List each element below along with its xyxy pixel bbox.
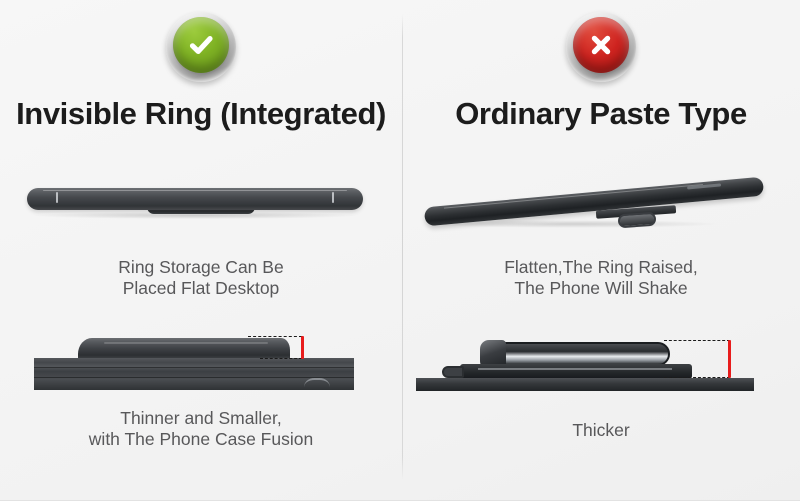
- thickness-marker-thin: [248, 336, 306, 362]
- comparison-page: Invisible Ring (Integrated) Ring Storage…: [0, 0, 800, 501]
- caption-thin-profile: Thinner and Smaller, with The Phone Case…: [0, 408, 402, 450]
- antenna-line-right: [332, 192, 334, 203]
- phone-body-flat: [27, 188, 363, 210]
- caption-flat-desktop: Ring Storage Can Be Placed Flat Desktop: [0, 257, 402, 299]
- panel-thin-profile: [0, 326, 402, 404]
- caliper-dash-bottom: [664, 377, 730, 378]
- panel-wobble-desktop: [402, 168, 800, 250]
- check-circle-icon: [173, 17, 229, 73]
- caption-thick-profile: Thicker: [402, 420, 800, 441]
- ring-loop: [618, 212, 657, 229]
- paste-on-ring-mount: [596, 208, 676, 228]
- status-button-good: [166, 12, 236, 82]
- phone-body-tilted: [424, 177, 764, 227]
- phone-case-body: [460, 364, 692, 379]
- panel-flat-desktop: [0, 172, 402, 252]
- phone-case-cross-section-thick: [402, 326, 800, 406]
- column-heading-right: Ordinary Paste Type: [402, 96, 800, 132]
- phone-case-cross-section-thin: [0, 326, 402, 404]
- caliper-bar-red: [301, 336, 304, 359]
- antenna-line-left: [56, 192, 58, 203]
- slab-groove: [34, 377, 354, 378]
- column-heading-left: Invisible Ring (Integrated): [0, 96, 402, 132]
- desk-slab-left: [34, 358, 354, 390]
- phone-tilted-rocking-side-view: [402, 168, 800, 250]
- column-ordinary-paste: Ordinary Paste Type Flatten,The Ring Rai…: [402, 0, 800, 501]
- side-button-detail: [687, 183, 721, 189]
- caliper-dash-top: [248, 336, 302, 337]
- status-button-bad: [566, 12, 636, 82]
- phone-lying-flat-side-view: [0, 172, 402, 252]
- cross-circle-icon: [573, 17, 629, 73]
- caliper-dash-top: [664, 340, 730, 341]
- tilted-phone-group: [424, 178, 764, 230]
- column-invisible-ring: Invisible Ring (Integrated) Ring Storage…: [0, 0, 402, 501]
- thickness-marker-thick: [664, 340, 736, 380]
- slab-groove: [34, 367, 354, 368]
- caliper-dash-bottom: [260, 358, 302, 359]
- case-edge-clip: [442, 366, 464, 378]
- caliper-bar-red: [728, 340, 731, 378]
- caption-wobble-desktop: Flatten,The Ring Raised, The Phone Will …: [402, 257, 800, 299]
- ring-mount-thick: [492, 342, 670, 366]
- panel-thick-profile: [402, 326, 800, 406]
- case-hook-detail: [304, 378, 330, 387]
